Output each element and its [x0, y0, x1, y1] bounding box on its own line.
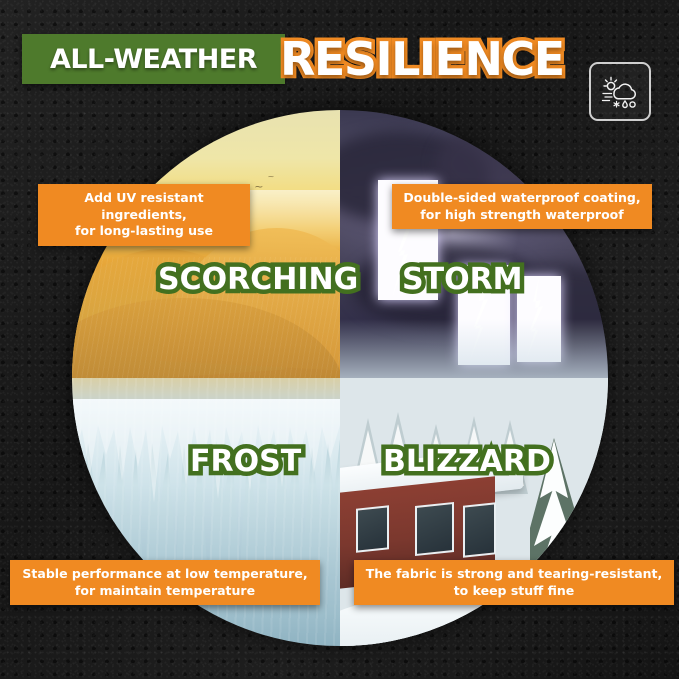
callout-waterproof-coating: Double-sided waterproof coating, for hig… [392, 184, 652, 229]
header-title-accent: RESILIENCE [280, 26, 580, 92]
bird-icon: ~ [268, 172, 275, 181]
quadrant-storm [340, 110, 608, 378]
frost-scene [72, 378, 340, 646]
quadrant-frost [72, 378, 340, 646]
quadrant-blizzard [340, 378, 608, 646]
storm-scene [340, 110, 608, 378]
storm-horizon [340, 319, 608, 378]
cabin-window [356, 505, 389, 553]
product-feature-poster: ALL-WEATHER RESILIENCE [0, 0, 679, 679]
callout-line-2: to keep stuff fine [364, 583, 664, 600]
cabin-window [463, 502, 496, 558]
header-title-primary: ALL-WEATHER [22, 34, 285, 84]
callout-line-2: for high strength waterproof [402, 207, 642, 224]
callout-line-1: Stable performance at low temperature, [20, 566, 310, 583]
bird-icon: ~ [254, 180, 263, 193]
label-blizzard: BLIZZARD [383, 444, 551, 479]
callout-line-1: Double-sided waterproof coating, [402, 190, 642, 207]
label-scorching: SCORCHING [158, 262, 358, 297]
callout-low-temperature: Stable performance at low temperature, f… [10, 560, 320, 605]
label-frost: FROST [190, 444, 301, 479]
sun-cloud-rain-snow-wind-icon [600, 74, 640, 110]
label-storm: STORM [402, 262, 523, 297]
callout-line-1: The fabric is strong and tearing-resista… [364, 566, 664, 583]
callout-line-1: Add UV resistant ingredients, [48, 190, 240, 223]
callout-tear-resistance: The fabric is strong and tearing-resista… [354, 560, 674, 605]
header-banner: ALL-WEATHER RESILIENCE [0, 28, 679, 96]
callout-uv-resistance: Add UV resistant ingredients, for long-l… [38, 184, 250, 246]
blizzard-scene [340, 378, 608, 646]
callout-line-2: for long-lasting use [48, 223, 240, 240]
ice-sheen-texture [72, 378, 340, 646]
cabin-window [415, 502, 454, 556]
callout-line-2: for maintain temperature [20, 583, 310, 600]
